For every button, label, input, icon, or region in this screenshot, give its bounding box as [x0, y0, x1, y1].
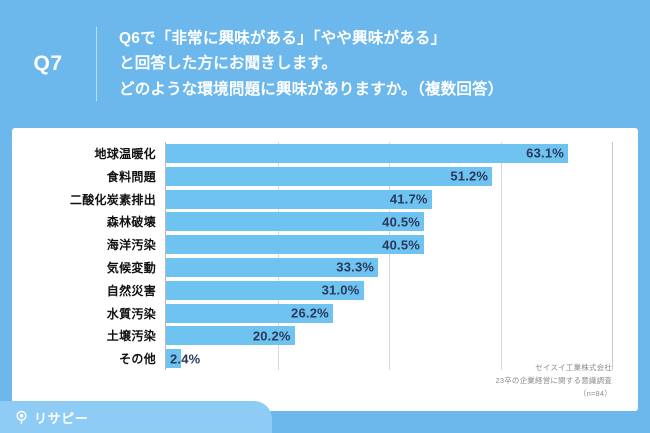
source-sample-size: （n=84）: [495, 388, 612, 401]
category-label: 気候変動: [107, 258, 156, 277]
question-line-3: どのような環境問題に興味がありますか。（複数回答）: [119, 77, 503, 102]
bar-value-label: 63.1%: [526, 146, 564, 161]
table-row: 26.2%: [166, 304, 612, 323]
category-label: 食料問題: [107, 167, 156, 186]
category-label: 地球温暖化: [94, 144, 156, 163]
bar: 26.2%: [166, 304, 333, 323]
question-text: Q6で「非常に興味がある」「やや興味がある」 と回答した方にお聞きします。 どの…: [97, 26, 503, 101]
bar-value-label: 51.2%: [450, 169, 488, 184]
question-header: Q7 Q6で「非常に興味がある」「やや興味がある」 と回答した方にお聞きします。…: [0, 0, 650, 128]
table-row: 63.1%: [166, 144, 612, 163]
bar-value-label: 26.2%: [291, 306, 329, 321]
bar: 31.0%: [166, 281, 364, 300]
category-label: 土壌汚染: [107, 326, 156, 345]
category-label: 海洋汚染: [107, 235, 156, 254]
category-label: 水質汚染: [107, 304, 156, 323]
gridline: [612, 142, 613, 370]
category-label: 二酸化炭素排出: [70, 190, 156, 209]
table-row: 20.2%: [166, 326, 612, 345]
bar: 33.3%: [166, 258, 378, 277]
source-company: セイスイ工業株式会社: [495, 362, 612, 375]
bar: 63.1%: [166, 144, 568, 163]
table-row: 40.5%: [166, 212, 612, 231]
bar-value-label: 41.7%: [390, 192, 428, 207]
category-label: 森林破壊: [107, 212, 156, 231]
plot-area: 63.1%51.2%41.7%40.5%40.5%33.3%31.0%26.2%…: [165, 142, 612, 370]
bar: 40.5%: [166, 235, 424, 254]
magnifier-pin-icon: [14, 410, 29, 425]
bar-value-label: 2.4%: [170, 351, 200, 366]
bar-value-label: 40.5%: [382, 237, 420, 252]
question-line-1: Q6で「非常に興味がある」「やや興味がある」: [119, 26, 503, 51]
table-row: 41.7%: [166, 190, 612, 209]
question-line-2: と回答した方にお聞きします。: [119, 51, 503, 76]
table-row: 51.2%: [166, 167, 612, 186]
question-number: Q7: [0, 52, 96, 76]
logo-text: リサピー: [34, 408, 88, 427]
category-label: その他: [119, 349, 156, 368]
table-row: 40.5%: [166, 235, 612, 254]
source-note: セイスイ工業株式会社 23卒の企業経営に関する意識調査 （n=84）: [495, 362, 612, 401]
bar: 40.5%: [166, 212, 424, 231]
bar: 20.2%: [166, 326, 295, 345]
bar-value-label: 20.2%: [253, 328, 291, 343]
bar: 41.7%: [166, 190, 432, 209]
bar: 2.4%: [166, 349, 181, 368]
bar: 51.2%: [166, 167, 492, 186]
category-labels: 地球温暖化食料問題二酸化炭素排出森林破壊海洋汚染気候変動自然災害水質汚染土壌汚染…: [12, 142, 165, 370]
bar-value-label: 33.3%: [336, 260, 374, 275]
bar-value-label: 31.0%: [322, 283, 360, 298]
bar-rows: 63.1%51.2%41.7%40.5%40.5%33.3%31.0%26.2%…: [166, 142, 612, 370]
bar-chart: 地球温暖化食料問題二酸化炭素排出森林破壊海洋汚染気候変動自然災害水質汚染土壌汚染…: [12, 142, 638, 370]
category-label: 自然災害: [107, 281, 156, 300]
table-row: 33.3%: [166, 258, 612, 277]
footer-logo: リサピー: [0, 401, 272, 433]
bar-value-label: 40.5%: [382, 214, 420, 229]
chart-card: 地球温暖化食料問題二酸化炭素排出森林破壊海洋汚染気候変動自然災害水質汚染土壌汚染…: [12, 128, 638, 411]
source-survey: 23卒の企業経営に関する意識調査: [495, 375, 612, 388]
table-row: 31.0%: [166, 281, 612, 300]
